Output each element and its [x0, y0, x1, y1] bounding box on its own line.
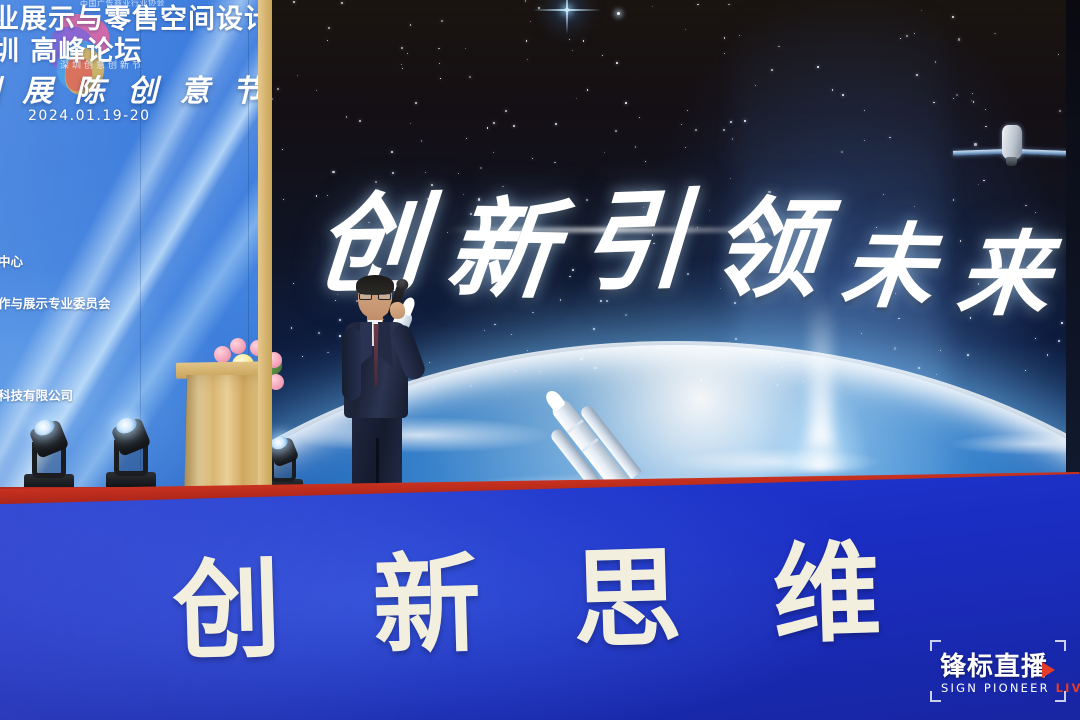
star — [282, 149, 283, 150]
star — [971, 100, 973, 102]
star — [469, 76, 471, 78]
watermark-brand-cn: 锋标直播 — [940, 646, 1048, 683]
screen-title-char: 来 — [953, 201, 1061, 334]
hair — [356, 275, 394, 295]
bracket-corner-icon — [1055, 640, 1066, 651]
star — [410, 123, 411, 124]
star — [316, 195, 318, 197]
star — [318, 332, 320, 334]
star — [527, 350, 528, 351]
star — [511, 334, 512, 335]
credit-line: 民政府 — [0, 202, 248, 226]
star — [639, 117, 640, 118]
podium-side-column — [258, 0, 272, 520]
star — [525, 0, 526, 1]
screen-title-char: 领 — [705, 163, 831, 319]
star — [593, 328, 595, 330]
star — [914, 33, 915, 34]
screen-title-char: 引 — [577, 153, 697, 313]
bottom-banner-char: 创 — [171, 522, 285, 681]
bottom-blue-banner: 创 新 思 维 — [0, 473, 1080, 720]
star — [918, 367, 920, 369]
bracket-corner-icon — [930, 691, 941, 702]
bottom-banner-char: 思 — [571, 511, 685, 670]
star — [685, 147, 686, 148]
bottom-banner-char: 维 — [770, 506, 884, 665]
banner-script-title: 圳 展 陈 创 意 节 — [0, 66, 260, 110]
stage-photograph: 中国广告商业行业协会 商业展示与零售空间设计 深圳 高峰论坛 深圳创意创新节 圳… — [0, 0, 1080, 720]
star — [465, 48, 466, 49]
star — [615, 130, 617, 132]
star — [1058, 54, 1059, 55]
star — [728, 4, 729, 5]
star — [864, 140, 865, 141]
star — [293, 1, 295, 3]
star — [616, 62, 618, 64]
star — [429, 362, 430, 363]
star — [466, 138, 468, 140]
star — [935, 61, 937, 63]
star — [441, 20, 443, 22]
star — [652, 6, 653, 7]
star — [685, 29, 686, 30]
bottom-banner-text: 创 新 思 维 — [171, 506, 885, 682]
livestream-watermark: 锋标直播 SIGN PIONEER LIVE — [930, 640, 1066, 702]
star — [1035, 338, 1036, 339]
star — [952, 16, 953, 17]
star — [587, 89, 589, 91]
star — [440, 78, 441, 79]
star — [936, 374, 937, 375]
star — [526, 40, 528, 42]
screen-title-char: 新 — [440, 162, 568, 320]
star — [635, 146, 637, 148]
star — [933, 102, 935, 104]
star — [346, 116, 347, 117]
star — [401, 64, 402, 65]
star — [994, 33, 995, 34]
star — [555, 123, 557, 125]
screen-title-char: 未 — [836, 192, 946, 327]
star — [493, 122, 495, 124]
watermark-brand-en: SIGN PIONEER LIVE — [941, 681, 1080, 695]
star — [916, 74, 918, 76]
star — [972, 93, 973, 94]
star — [576, 98, 577, 99]
star — [724, 53, 725, 54]
star — [940, 350, 941, 351]
star — [316, 90, 317, 91]
star — [730, 121, 732, 123]
star — [695, 129, 697, 131]
glasses-icon — [358, 293, 392, 300]
star — [297, 75, 298, 76]
star — [484, 330, 485, 331]
bottom-banner-char: 新 — [371, 517, 485, 676]
star — [973, 101, 974, 102]
star — [293, 283, 294, 284]
star — [1061, 322, 1063, 324]
star — [681, 124, 682, 125]
star — [530, 21, 531, 22]
star — [327, 352, 329, 354]
play-triangle-icon — [1042, 662, 1055, 678]
star — [625, 314, 627, 316]
moving-head-stage-light — [104, 422, 158, 494]
bright-star-icon — [617, 12, 620, 15]
star — [953, 98, 955, 100]
star — [438, 48, 440, 50]
star — [569, 39, 570, 40]
star — [817, 66, 818, 67]
star — [527, 59, 528, 60]
star — [687, 110, 688, 111]
credit-line: 人民政府 — [0, 226, 248, 250]
star — [755, 85, 756, 86]
light-streak — [445, 228, 805, 232]
screen-right-edge — [1066, 0, 1080, 505]
star — [906, 35, 908, 37]
star — [407, 53, 408, 54]
star — [328, 27, 330, 29]
star — [487, 127, 488, 128]
star — [291, 327, 293, 329]
star — [277, 88, 279, 90]
star — [697, 4, 698, 5]
star — [602, 55, 603, 56]
star — [723, 129, 725, 131]
star — [958, 38, 960, 40]
star — [283, 199, 285, 201]
star — [410, 24, 412, 26]
star — [778, 46, 780, 48]
star — [732, 138, 733, 139]
credit-line: 建设推进中心 — [0, 250, 248, 274]
star — [1058, 340, 1060, 342]
star — [439, 63, 440, 64]
star — [302, 356, 303, 357]
star — [832, 89, 833, 90]
moving-head-stage-light — [22, 424, 76, 496]
banner-headline-line1: 商业展示与零售空间设计 — [0, 4, 264, 36]
star — [625, 102, 627, 104]
star — [513, 125, 515, 127]
star — [359, 120, 361, 122]
star — [842, 94, 844, 96]
credit-line: 会 — [0, 178, 248, 202]
star — [327, 40, 328, 41]
star — [572, 50, 573, 51]
star — [900, 38, 901, 39]
star — [341, 2, 343, 4]
star — [494, 324, 496, 326]
star — [604, 152, 605, 153]
star — [744, 120, 745, 121]
star — [1025, 370, 1026, 371]
star — [739, 35, 740, 36]
banner-date: 2024.01.19-20 — [28, 108, 151, 124]
star — [921, 10, 923, 12]
star — [956, 94, 958, 96]
star — [771, 69, 773, 71]
star — [391, 151, 393, 153]
credit-line: 会广告制作与展示专业委员会 — [0, 292, 248, 316]
star — [967, 354, 969, 356]
star — [864, 110, 865, 111]
star — [985, 109, 986, 110]
star — [421, 140, 422, 141]
star — [415, 102, 417, 104]
bright-star-icon — [565, 8, 569, 12]
star — [493, 152, 494, 153]
watermark-en-live: LIVE — [1056, 681, 1080, 695]
star — [505, 110, 507, 112]
watermark-en-main: SIGN PIONEER — [941, 681, 1056, 695]
star — [402, 68, 403, 69]
star — [401, 47, 403, 49]
star — [889, 137, 891, 139]
star — [724, 37, 725, 38]
star — [1047, 354, 1048, 355]
star — [583, 40, 585, 42]
